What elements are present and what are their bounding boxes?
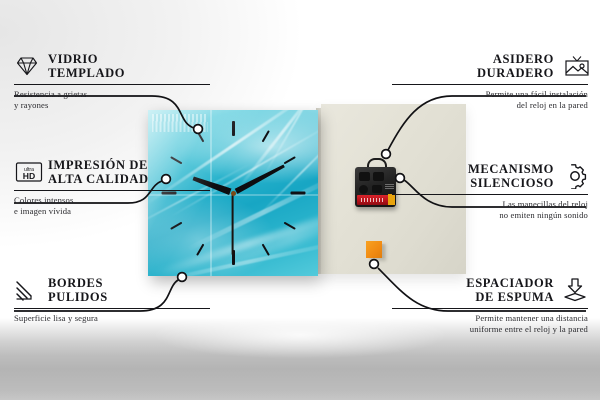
clock-tick-1 (262, 130, 270, 142)
feature-title-line1: ESPACIADOR (466, 276, 554, 290)
feature-head: VIDRIO TEMPLADO (14, 52, 210, 80)
diamond-icon (14, 53, 40, 79)
feature-title-line2: ALTA CALIDAD (48, 172, 149, 186)
feature-desc: Resistencia a grietas y rayones (14, 89, 210, 110)
feature-bordes-pulidos: BORDES PULIDOS Superficie lisa y segura (14, 276, 210, 324)
feature-espaciador-de-espuma: ESPACIADOR DE ESPUMA Permite mantener un… (392, 276, 588, 335)
feature-desc-line1: Permite una fácil instalación (392, 89, 588, 100)
feature-title: ASIDERO DURADERO (477, 52, 554, 80)
clock-tick-8 (170, 222, 182, 230)
feature-head: ASIDERO DURADERO (392, 52, 588, 80)
feature-impresion-alta-calidad: ultra HD IMPRESIÓN DE ALTA CALIDAD Color… (14, 158, 210, 217)
feature-rule (14, 84, 210, 85)
feature-title: IMPRESIÓN DE ALTA CALIDAD (48, 158, 149, 186)
print-texture (152, 114, 208, 132)
mechanism-spindle (359, 185, 368, 194)
feature-rule (392, 308, 588, 309)
polished-edges-icon (14, 277, 40, 303)
foam-spacer (366, 241, 382, 258)
feature-desc-line1: Permite mantener una distancia (392, 313, 588, 324)
feature-mecanismo-silencioso: MECANISMO SILENCIOSO Las manecillas del … (392, 162, 588, 221)
feature-desc: Colores intensos e imagen vívida (14, 195, 210, 216)
feature-rule (14, 190, 210, 191)
feature-rule (392, 194, 588, 195)
feature-desc: Permite mantener una distancia uniforme … (392, 313, 588, 334)
mechanism-detail (373, 172, 384, 181)
feature-rule (14, 308, 210, 309)
feature-desc: Permite una fácil instalación del reloj … (392, 89, 588, 110)
glass-panel-line (210, 110, 212, 276)
feature-title-line2: TEMPLADO (48, 66, 125, 80)
feature-title-line1: BORDES (48, 276, 108, 290)
feature-rule (392, 84, 588, 85)
feature-head: BORDES PULIDOS (14, 276, 210, 304)
mechanism-detail (359, 172, 370, 181)
feature-desc-line1: Las manecillas del reloj (392, 199, 588, 210)
foam-spacer-shadow (382, 244, 387, 258)
feature-desc-line1: Colores intensos (14, 195, 210, 206)
mechanism-detail (372, 185, 382, 193)
clock-tick-3 (291, 192, 306, 195)
feature-desc-line1: Resistencia a grietas (14, 89, 210, 100)
foam-spacer-icon (562, 277, 588, 303)
feature-head: ESPACIADOR DE ESPUMA (392, 276, 588, 304)
feature-asidero-duradero: ASIDERO DURADERO Permite una fácil insta… (392, 52, 588, 111)
clock-second-hand (232, 193, 234, 255)
feature-desc-line2: e imagen vívida (14, 206, 210, 217)
feature-head: MECANISMO SILENCIOSO (392, 162, 588, 190)
picture-hanger-icon (562, 53, 588, 79)
infographic-stage: VIDRIO TEMPLADO Resistencia a grietas y … (0, 0, 600, 400)
feature-desc-line2: uniforme entre el reloj y la pared (392, 324, 588, 335)
clock-center-cap (231, 191, 236, 196)
ultra-hd-icon: ultra HD (14, 159, 40, 185)
feature-title-line2: DURADERO (477, 66, 554, 80)
clock-tick-2 (284, 156, 296, 164)
feature-title: MECANISMO SILENCIOSO (468, 162, 554, 190)
feature-desc-line2: y rayones (14, 100, 210, 111)
feature-desc: Las manecillas del reloj no emiten ningú… (392, 199, 588, 220)
clock-tick-12 (232, 121, 235, 136)
feature-title: BORDES PULIDOS (48, 276, 108, 304)
feature-title-line2: DE ESPUMA (466, 290, 554, 304)
svg-text:HD: HD (23, 171, 35, 181)
feature-desc-line2: del reloj en la pared (392, 100, 588, 111)
feature-desc-line2: no emiten ningún sonido (392, 210, 588, 221)
feature-title-line1: IMPRESIÓN DE (48, 158, 149, 172)
feature-desc: Superficie lisa y segura (14, 313, 210, 324)
battery-label (361, 198, 383, 202)
feature-desc-line1: Superficie lisa y segura (14, 313, 210, 324)
feature-title-line1: VIDRIO (48, 52, 125, 66)
feature-title-line2: SILENCIOSO (468, 176, 554, 190)
feature-title: VIDRIO TEMPLADO (48, 52, 125, 80)
feature-vidrio-templado: VIDRIO TEMPLADO Resistencia a grietas y … (14, 52, 210, 111)
feature-title-line1: ASIDERO (477, 52, 554, 66)
feature-title: ESPACIADOR DE ESPUMA (466, 276, 554, 304)
feature-head: ultra HD IMPRESIÓN DE ALTA CALIDAD (14, 158, 210, 186)
feature-title-line2: PULIDOS (48, 290, 108, 304)
feature-title-line1: MECANISMO (468, 162, 554, 176)
gear-icon (562, 163, 588, 189)
